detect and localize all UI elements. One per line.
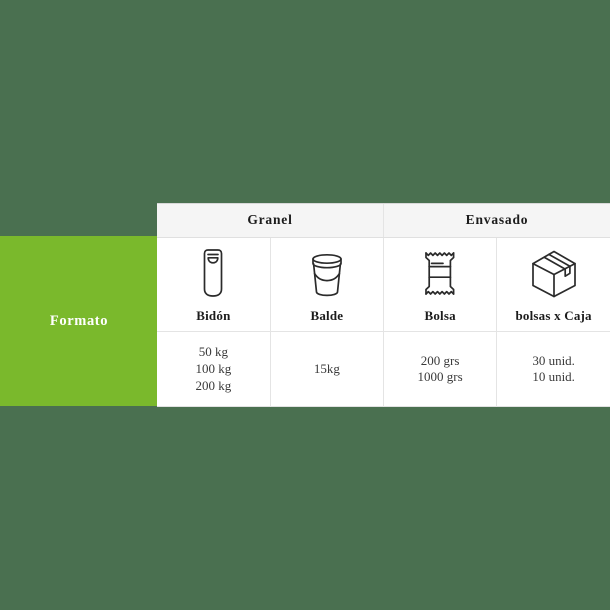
table-group-header-row: Granel Envasado	[157, 204, 610, 237]
cell-bolsa: Bolsa	[384, 237, 497, 331]
values-bolsa: 200 grs 1000 grs	[384, 331, 497, 407]
table-value-row: 50 kg 100 kg 200 kg 15kg 200 grs 1000 gr…	[157, 331, 610, 407]
value-line: 200 kg	[157, 378, 270, 395]
value-line: 30 unid.	[497, 353, 610, 370]
formato-table-grid: Granel Envasado	[157, 204, 610, 407]
group-header-granel: Granel	[157, 204, 384, 237]
formato-label: Formato	[50, 313, 108, 330]
cell-bidon: Bidón	[157, 237, 270, 331]
caption-bidon: Bidón	[196, 308, 230, 324]
cell-balde: Balde	[270, 237, 383, 331]
bag-icon	[419, 245, 461, 301]
bolsa-cell-inner: Bolsa	[384, 245, 496, 324]
value-line: 200 grs	[384, 353, 496, 370]
value-line: 50 kg	[157, 344, 270, 361]
values-balde: 15kg	[270, 331, 383, 407]
value-line: 1000 grs	[384, 369, 496, 386]
caption-bolsas-x-caja: bolsas x Caja	[515, 308, 591, 324]
formato-row-label-cell: Formato	[0, 236, 158, 406]
formato-table: Granel Envasado	[157, 203, 610, 407]
drum-icon	[193, 245, 233, 301]
group-header-granel-label: Granel	[247, 212, 292, 227]
bidon-cell-inner: Bidón	[157, 245, 270, 324]
group-header-envasado: Envasado	[384, 204, 610, 237]
balde-cell-inner: Balde	[271, 245, 383, 324]
values-bolsas-x-caja: 30 unid. 10 unid.	[497, 331, 610, 407]
bucket-icon	[305, 245, 349, 301]
group-header-envasado-label: Envasado	[466, 212, 529, 227]
caption-balde: Balde	[310, 308, 343, 324]
caption-bolsa: Bolsa	[424, 308, 455, 324]
value-line: 100 kg	[157, 361, 270, 378]
page-background: Formato Granel Envasado	[0, 0, 610, 610]
cell-bolsas-x-caja: bolsas x Caja	[497, 237, 610, 331]
value-line: 15kg	[271, 361, 383, 378]
table-icon-row: Bidón	[157, 237, 610, 331]
value-line: 10 unid.	[497, 369, 610, 386]
caja-cell-inner: bolsas x Caja	[497, 245, 610, 324]
box-icon	[527, 245, 581, 301]
values-bidon: 50 kg 100 kg 200 kg	[157, 331, 270, 407]
